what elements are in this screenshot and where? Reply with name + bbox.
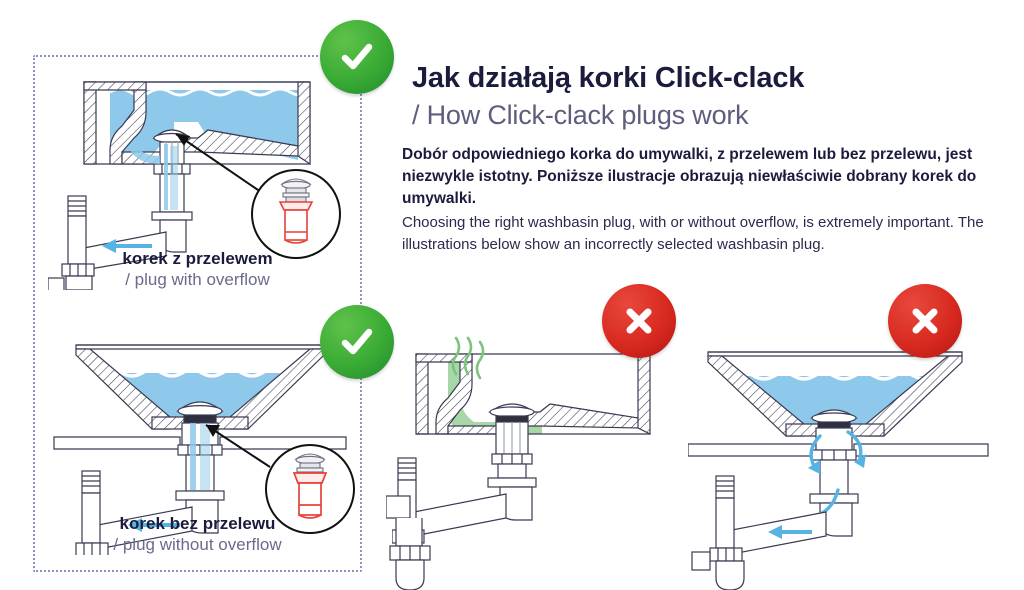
verdict-badge-incorrect-1 [602,284,676,358]
verdict-badge-incorrect-2 [888,284,962,358]
check-icon [336,321,378,363]
caption-pl: korek z przelewem [33,248,362,269]
lead-paragraph-pl: Dobór odpowiedniego korka do umywalki, z… [402,144,1010,210]
verdict-badge-correct-1 [320,20,394,94]
verdict-badge-correct-2 [320,305,394,379]
cross-icon [619,301,659,341]
cross-icon [905,301,945,341]
page-title: Jak działają korki Click-clack [412,62,804,95]
check-icon [336,36,378,78]
body-paragraph-en: Choosing the right washbasin plug, with … [402,212,1010,256]
caption-figure-2: korek bez przelewu / plug without overfl… [33,513,362,556]
caption-figure-1: korek z przelewem / plug with overflow [33,248,362,291]
figure-no-overflow-incorrect [688,340,1008,590]
figure-3-secondary-parts [386,460,506,590]
caption-en: / plug with overflow [33,269,362,291]
caption-pl: korek bez przelewu [33,513,362,534]
caption-en: / plug without overflow [33,534,362,556]
infographic-root: korek z przelewem / plug with overflow [0,0,1024,587]
page-subtitle: / How Click-clack plugs work [412,100,748,131]
